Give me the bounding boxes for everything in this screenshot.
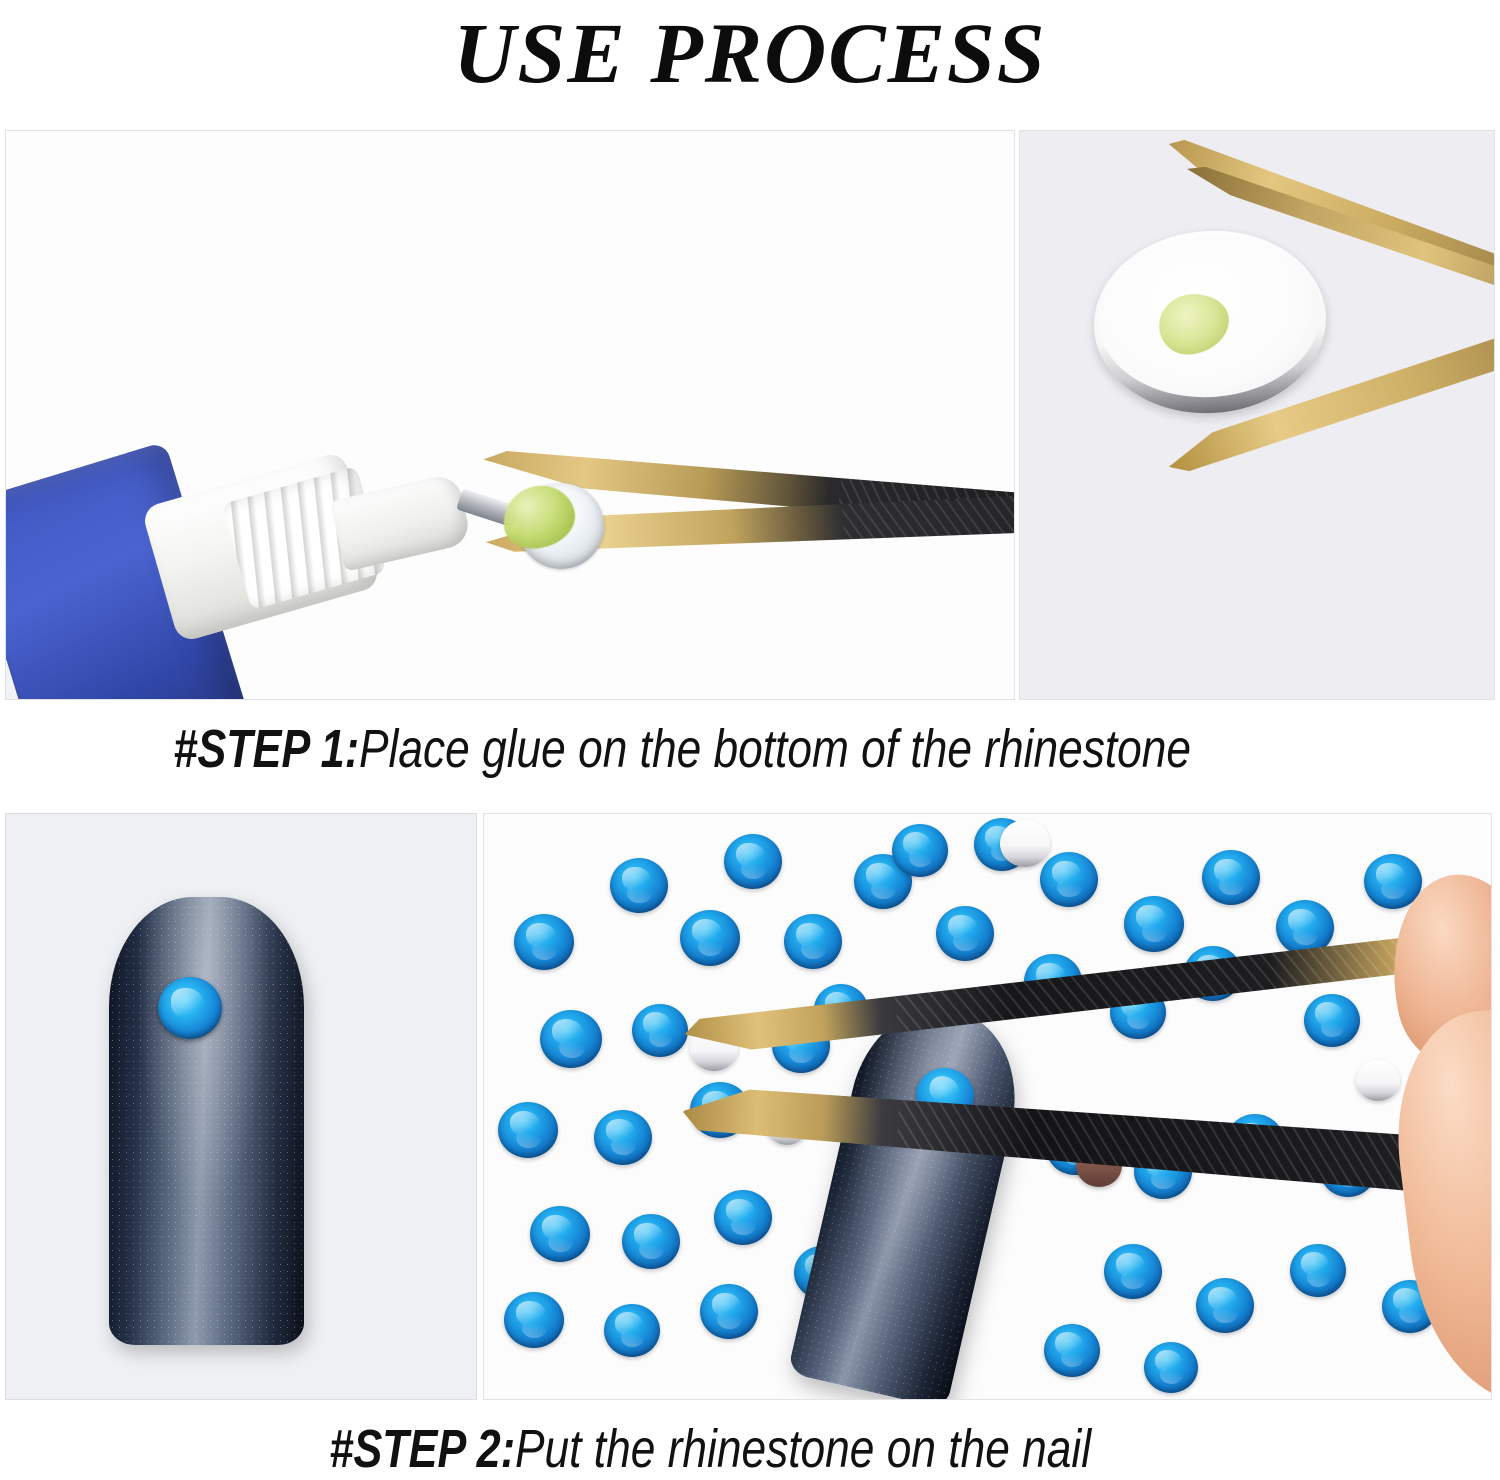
rhinestone (700, 1284, 758, 1339)
rhinestone (714, 1190, 772, 1245)
rhinestone (1124, 896, 1184, 952)
rhinestone-flat-back (1088, 223, 1332, 421)
rhinestone-flat-back (1356, 1060, 1400, 1101)
rhinestone (936, 906, 994, 961)
rhinestone (892, 824, 948, 877)
rhinestone (622, 1214, 680, 1269)
rhinestone (604, 1304, 660, 1357)
rhinestone (1290, 1244, 1346, 1297)
rhinestone-flat-back (1000, 820, 1050, 867)
rhinestone (514, 914, 574, 970)
page-title: USE PROCESS (0, 0, 1500, 120)
rhinestone-facet-highlight (171, 988, 204, 1018)
panel-glue-dot-closeup (1019, 130, 1495, 700)
applied-rhinestone (158, 977, 222, 1039)
panel-finished-nail (5, 813, 477, 1400)
rhinestone (530, 1206, 590, 1262)
rhinestone (498, 1102, 558, 1158)
step-1-caption: #STEP 1: Place glue on the bottom of the… (0, 718, 1500, 780)
step-2-text: Put the rhinestone on the nail (515, 1418, 1091, 1480)
rhinestone (504, 1292, 564, 1348)
rhinestone (610, 858, 668, 913)
step-1-label: #STEP 1: (173, 718, 359, 780)
nail-glitter-texture (109, 897, 304, 1345)
rhinestone (784, 914, 842, 969)
step-2-label: #STEP 2: (329, 1418, 515, 1480)
rhinestone (1044, 1324, 1100, 1377)
rhinestone (540, 1010, 602, 1068)
rhinestone (632, 1004, 688, 1057)
rhinestone (680, 910, 740, 966)
rhinestone (1144, 1342, 1198, 1393)
rhinestone (724, 834, 782, 889)
panel-glue-on-rhinestone: G Rh (5, 130, 1015, 700)
step-2-caption: #STEP 2: Put the rhinestone on the nail (0, 1418, 1500, 1480)
rhinestone (1202, 850, 1260, 905)
rhinestone (1040, 852, 1098, 907)
rhinestone (1196, 1278, 1254, 1333)
panel-placing-rhinestone (483, 813, 1492, 1400)
bottle-label-line-2: Rh (5, 636, 36, 700)
rhinestone (1304, 994, 1360, 1047)
rhinestone (1104, 1244, 1162, 1299)
press-on-nail (109, 897, 304, 1345)
thumb (1383, 1000, 1492, 1400)
rhinestone (594, 1110, 652, 1165)
step-1-text: Place glue on the bottom of the rhinesto… (359, 718, 1191, 780)
